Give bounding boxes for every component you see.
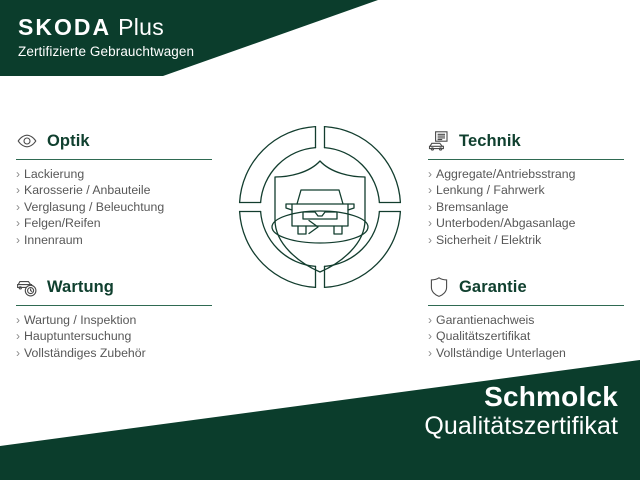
list-item-label: Qualitätszertifikat [436, 328, 530, 344]
skoda-wordmark: SKODA [18, 16, 111, 39]
chevron-icon: › [16, 215, 20, 231]
car-service-icon [16, 276, 38, 298]
car-document-icon [428, 130, 450, 152]
chevron-icon: › [428, 232, 432, 248]
logo-wordmark-row: SKODA Plus [18, 16, 194, 39]
list-item-label: Vollständige Unterlagen [436, 345, 566, 361]
list-item: ›Vollständige Unterlagen [428, 345, 624, 361]
eye-icon [16, 130, 38, 152]
section-technik: Technik ›Aggregate/Antriebsstrang ›Lenku… [428, 128, 624, 248]
chevron-icon: › [428, 166, 432, 182]
list-item-label: Karosserie / Anbauteile [24, 182, 150, 198]
section-wartung-title: Wartung [47, 279, 114, 296]
chevron-icon: › [428, 199, 432, 215]
section-garantie-header: Garantie [428, 274, 624, 300]
list-item: ›Verglasung / Beleuchtung [16, 199, 212, 215]
dealer-name: Schmolck [424, 382, 618, 411]
section-optik-title: Optik [47, 133, 90, 150]
list-item-label: Lenkung / Fahrwerk [436, 182, 545, 198]
chevron-icon: › [428, 345, 432, 361]
list-item-label: Verglasung / Beleuchtung [24, 199, 164, 215]
list-item-label: Felgen/Reifen [24, 215, 101, 231]
right-column: Technik ›Aggregate/Antriebsstrang ›Lenku… [428, 128, 624, 375]
skoda-plus-logo: SKODA Plus Zertifizierte Gebrauchtwagen [18, 16, 194, 59]
list-item: ›Wartung / Inspektion [16, 312, 212, 328]
plus-wordmark: Plus [118, 16, 164, 39]
section-technik-rule [428, 159, 624, 160]
list-item-label: Sicherheit / Elektrik [436, 232, 541, 248]
section-garantie-title: Garantie [459, 279, 527, 296]
list-item-label: Lackierung [24, 166, 84, 182]
list-item: ›Sicherheit / Elektrik [428, 232, 624, 248]
section-wartung: Wartung ›Wartung / Inspektion ›Hauptunte… [16, 274, 212, 361]
list-item: ›Vollständiges Zubehör [16, 345, 212, 361]
chevron-icon: › [16, 166, 20, 182]
section-technik-title: Technik [459, 133, 521, 150]
chevron-icon: › [16, 199, 20, 215]
chevron-icon: › [16, 328, 20, 344]
section-optik-header: Optik [16, 128, 212, 154]
certificate-label: Qualitätszertifikat [424, 413, 618, 441]
chevron-icon: › [428, 312, 432, 328]
list-item: ›Karosserie / Anbauteile [16, 182, 212, 198]
dealer-branding: Schmolck Qualitätszertifikat [424, 382, 618, 441]
section-garantie-rule [428, 305, 624, 306]
chevron-icon: › [428, 215, 432, 231]
list-item: ›Unterboden/Abgasanlage [428, 215, 624, 231]
list-item-label: Unterboden/Abgasanlage [436, 215, 575, 231]
chevron-icon: › [428, 182, 432, 198]
shield-icon [428, 276, 450, 298]
list-item: ›Innenraum [16, 232, 212, 248]
chevron-icon: › [16, 312, 20, 328]
section-garantie-list: ›Garantienachweis ›Qualitätszertifikat ›… [428, 312, 624, 361]
list-item-label: Garantienachweis [436, 312, 534, 328]
list-item: ›Qualitätszertifikat [428, 328, 624, 344]
section-wartung-header: Wartung [16, 274, 212, 300]
list-item-label: Bremsanlage [436, 199, 508, 215]
section-optik-rule [16, 159, 212, 160]
section-wartung-list: ›Wartung / Inspektion ›Hauptuntersuchung… [16, 312, 212, 361]
section-optik: Optik ›Lackierung ›Karosserie / Anbautei… [16, 128, 212, 248]
chevron-icon: › [16, 345, 20, 361]
list-item-label: Hauptuntersuchung [24, 328, 131, 344]
chevron-icon: › [428, 328, 432, 344]
chevron-icon: › [16, 182, 20, 198]
left-column: Optik ›Lackierung ›Karosserie / Anbautei… [16, 128, 212, 375]
list-item-label: Innenraum [24, 232, 83, 248]
list-item: ›Lenkung / Fahrwerk [428, 182, 624, 198]
list-item-label: Wartung / Inspektion [24, 312, 136, 328]
list-item-label: Vollständiges Zubehör [24, 345, 146, 361]
list-item: ›Hauptuntersuchung [16, 328, 212, 344]
chevron-icon: › [16, 232, 20, 248]
list-item: ›Felgen/Reifen [16, 215, 212, 231]
section-garantie: Garantie ›Garantienachweis ›Qualitätszer… [428, 274, 624, 361]
certified-vehicle-emblem [237, 124, 403, 290]
section-technik-header: Technik [428, 128, 624, 154]
logo-subtitle: Zertifizierte Gebrauchtwagen [18, 44, 194, 59]
certificate-page: SKODA Plus Zertifizierte Gebrauchtwagen … [0, 0, 640, 480]
list-item: ›Garantienachweis [428, 312, 624, 328]
section-optik-list: ›Lackierung ›Karosserie / Anbauteile ›Ve… [16, 166, 212, 248]
section-wartung-rule [16, 305, 212, 306]
list-item: ›Bremsanlage [428, 199, 624, 215]
section-technik-list: ›Aggregate/Antriebsstrang ›Lenkung / Fah… [428, 166, 624, 248]
list-item: ›Aggregate/Antriebsstrang [428, 166, 624, 182]
list-item: ›Lackierung [16, 166, 212, 182]
list-item-label: Aggregate/Antriebsstrang [436, 166, 575, 182]
